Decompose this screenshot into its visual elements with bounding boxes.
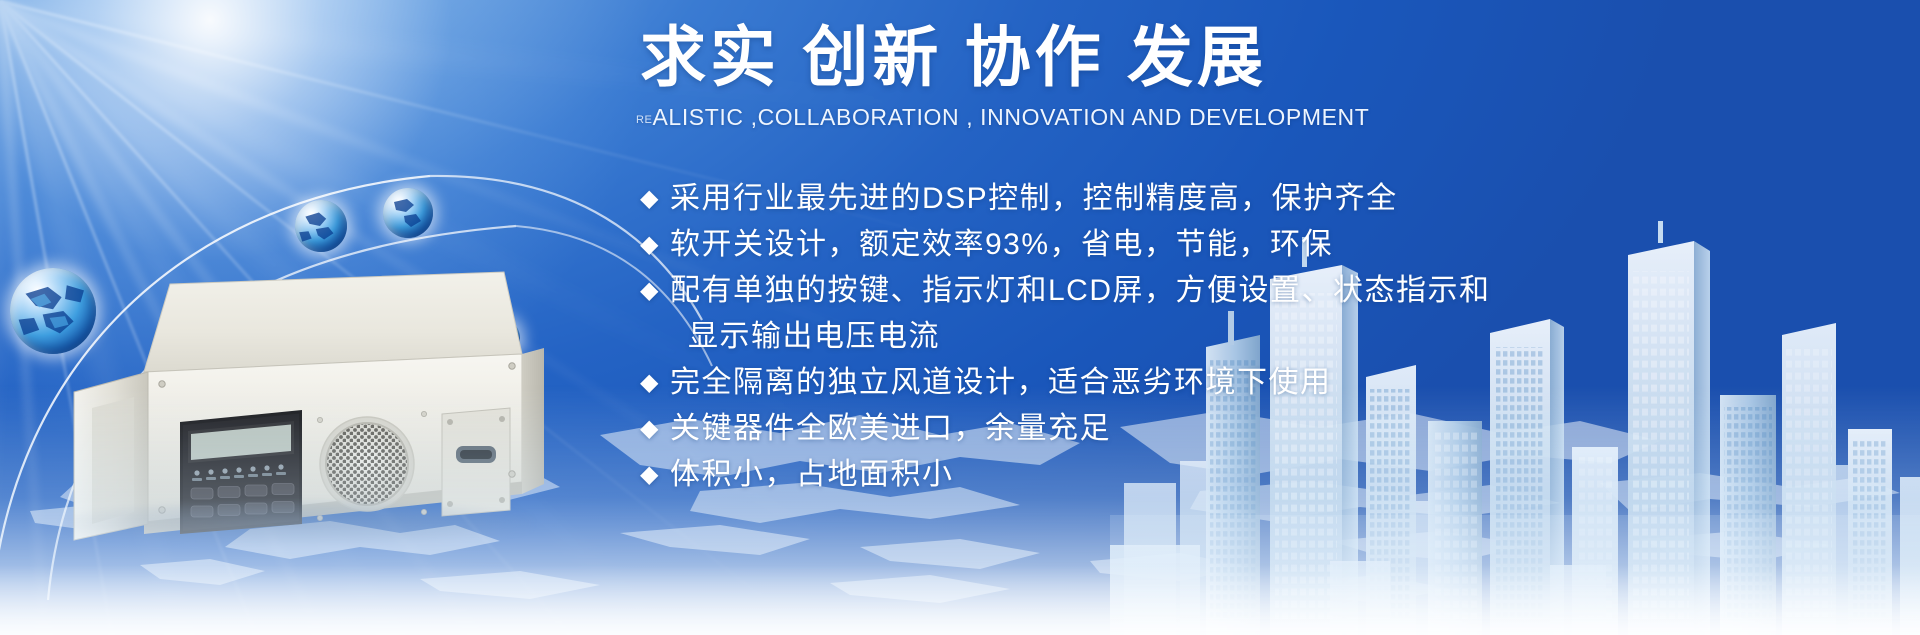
- headline: 求实 创新 协作 发展: [640, 22, 1267, 93]
- feature-text: 显示输出电压电流: [670, 314, 940, 360]
- feature-list: ◆采用行业最先进的DSP控制，控制精度高，保护齐全◆软开关设计，额定效率93%，…: [640, 176, 1900, 498]
- feature-text: 完全隔离的独立风道设计，适合恶劣环境下使用: [670, 360, 1332, 406]
- diamond-bullet-icon: ◆: [640, 268, 670, 314]
- subheadline: REALISTIC ,COLLABORATION , INNOVATION AN…: [636, 104, 1369, 131]
- feature-text: 软开关设计，额定效率93%，省电，节能，环保: [670, 222, 1333, 268]
- diamond-bullet-icon: ◆: [640, 406, 670, 452]
- feature-item: ◆采用行业最先进的DSP控制，控制精度高，保护齐全: [640, 176, 1900, 222]
- feature-item: ◆关键器件全欧美进口，余量充足: [640, 406, 1900, 452]
- promo-banner: 求实 创新 协作 发展 REALISTIC ,COLLABORATION , I…: [0, 0, 1920, 635]
- subheadline-lead: RE: [636, 114, 652, 126]
- subheadline-text: ALISTIC ,COLLABORATION , INNOVATION AND …: [652, 104, 1369, 130]
- feature-item: ◆显示输出电压电流: [640, 314, 1900, 360]
- copy-block: 求实 创新 协作 发展 REALISTIC ,COLLABORATION , I…: [0, 0, 1920, 635]
- diamond-bullet-icon: ◆: [640, 176, 670, 222]
- feature-item: ◆体积小，占地面积小: [640, 452, 1900, 498]
- diamond-bullet-icon: ◆: [640, 452, 670, 498]
- feature-item: ◆软开关设计，额定效率93%，省电，节能，环保: [640, 222, 1900, 268]
- feature-text: 关键器件全欧美进口，余量充足: [670, 406, 1111, 452]
- feature-text: 采用行业最先进的DSP控制，控制精度高，保护齐全: [670, 176, 1398, 222]
- feature-text: 配有单独的按键、指示灯和LCD屏，方便设置、状态指示和: [670, 268, 1491, 314]
- diamond-bullet-icon: ◆: [640, 222, 670, 268]
- feature-item: ◆完全隔离的独立风道设计，适合恶劣环境下使用: [640, 360, 1900, 406]
- diamond-bullet-icon: ◆: [640, 360, 670, 406]
- feature-text: 体积小，占地面积小: [670, 452, 954, 498]
- feature-item: ◆配有单独的按键、指示灯和LCD屏，方便设置、状态指示和: [640, 268, 1900, 314]
